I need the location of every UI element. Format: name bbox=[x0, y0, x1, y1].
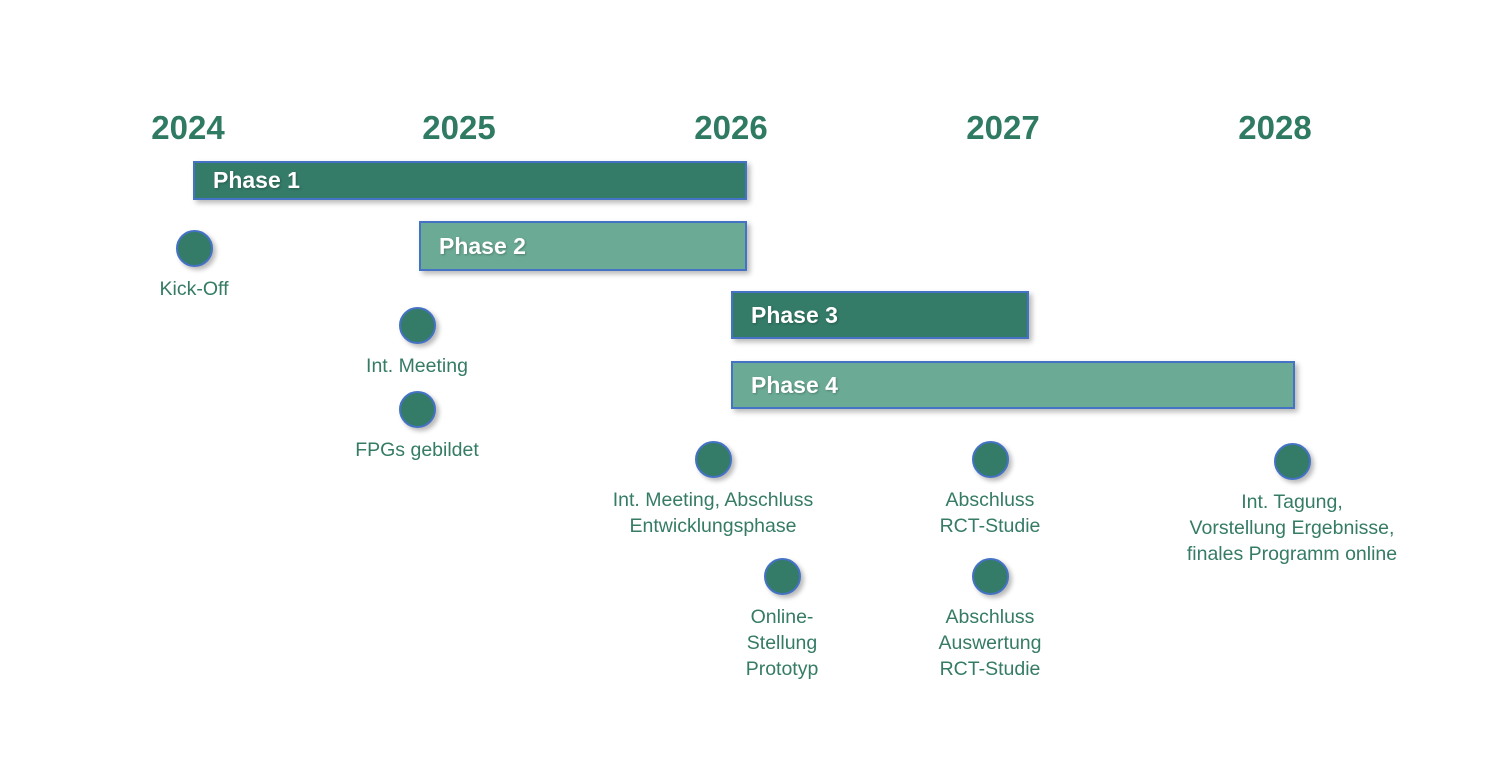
phase-bar-label-2: Phase 2 bbox=[421, 235, 526, 258]
milestone-dot-icon bbox=[972, 441, 1009, 478]
phase-bar-label-4: Phase 4 bbox=[733, 374, 838, 397]
milestone-1[interactable]: Kick-Off bbox=[44, 230, 344, 302]
milestone-label-4: Int. Meeting, Abschluss Entwicklungsphas… bbox=[613, 487, 814, 539]
year-label-2028: 2028 bbox=[1195, 108, 1355, 148]
timeline-chart: 20242025202620272028 Phase 1Phase 2Phase… bbox=[0, 0, 1504, 780]
milestone-3[interactable]: FPGs gebildet bbox=[267, 391, 567, 463]
year-label-2025: 2025 bbox=[379, 108, 539, 148]
milestone-label-1: Kick-Off bbox=[160, 276, 229, 302]
phase-bar-1[interactable]: Phase 1 bbox=[193, 161, 747, 200]
milestone-label-6: Abschluss RCT-Studie bbox=[940, 487, 1041, 539]
milestone-label-5: Online- Stellung Prototyp bbox=[746, 604, 819, 682]
milestone-dot-icon bbox=[972, 558, 1009, 595]
milestone-label-2: Int. Meeting bbox=[366, 353, 468, 379]
year-label-2024: 2024 bbox=[108, 108, 268, 148]
milestone-2[interactable]: Int. Meeting bbox=[267, 307, 567, 379]
milestone-label-3: FPGs gebildet bbox=[355, 437, 479, 463]
year-label-2026: 2026 bbox=[651, 108, 811, 148]
milestone-6[interactable]: Abschluss RCT-Studie bbox=[840, 441, 1140, 539]
milestone-dot-icon bbox=[695, 441, 732, 478]
phase-bar-3[interactable]: Phase 3 bbox=[731, 291, 1029, 339]
milestone-label-8: Int. Tagung, Vorstellung Ergebnisse, fin… bbox=[1187, 489, 1397, 567]
phase-bar-4[interactable]: Phase 4 bbox=[731, 361, 1295, 409]
milestone-label-7: Abschluss Auswertung RCT-Studie bbox=[939, 604, 1042, 682]
milestone-4[interactable]: Int. Meeting, Abschluss Entwicklungsphas… bbox=[563, 441, 863, 539]
year-label-2027: 2027 bbox=[923, 108, 1083, 148]
milestone-dot-icon bbox=[1274, 443, 1311, 480]
milestone-7[interactable]: Abschluss Auswertung RCT-Studie bbox=[840, 558, 1140, 682]
milestone-dot-icon bbox=[764, 558, 801, 595]
milestone-dot-icon bbox=[399, 391, 436, 428]
phase-bar-2[interactable]: Phase 2 bbox=[419, 221, 747, 271]
phase-bar-label-1: Phase 1 bbox=[195, 169, 300, 192]
milestone-dot-icon bbox=[399, 307, 436, 344]
milestone-8[interactable]: Int. Tagung, Vorstellung Ergebnisse, fin… bbox=[1142, 443, 1442, 567]
milestone-dot-icon bbox=[176, 230, 213, 267]
phase-bar-label-3: Phase 3 bbox=[733, 304, 838, 327]
